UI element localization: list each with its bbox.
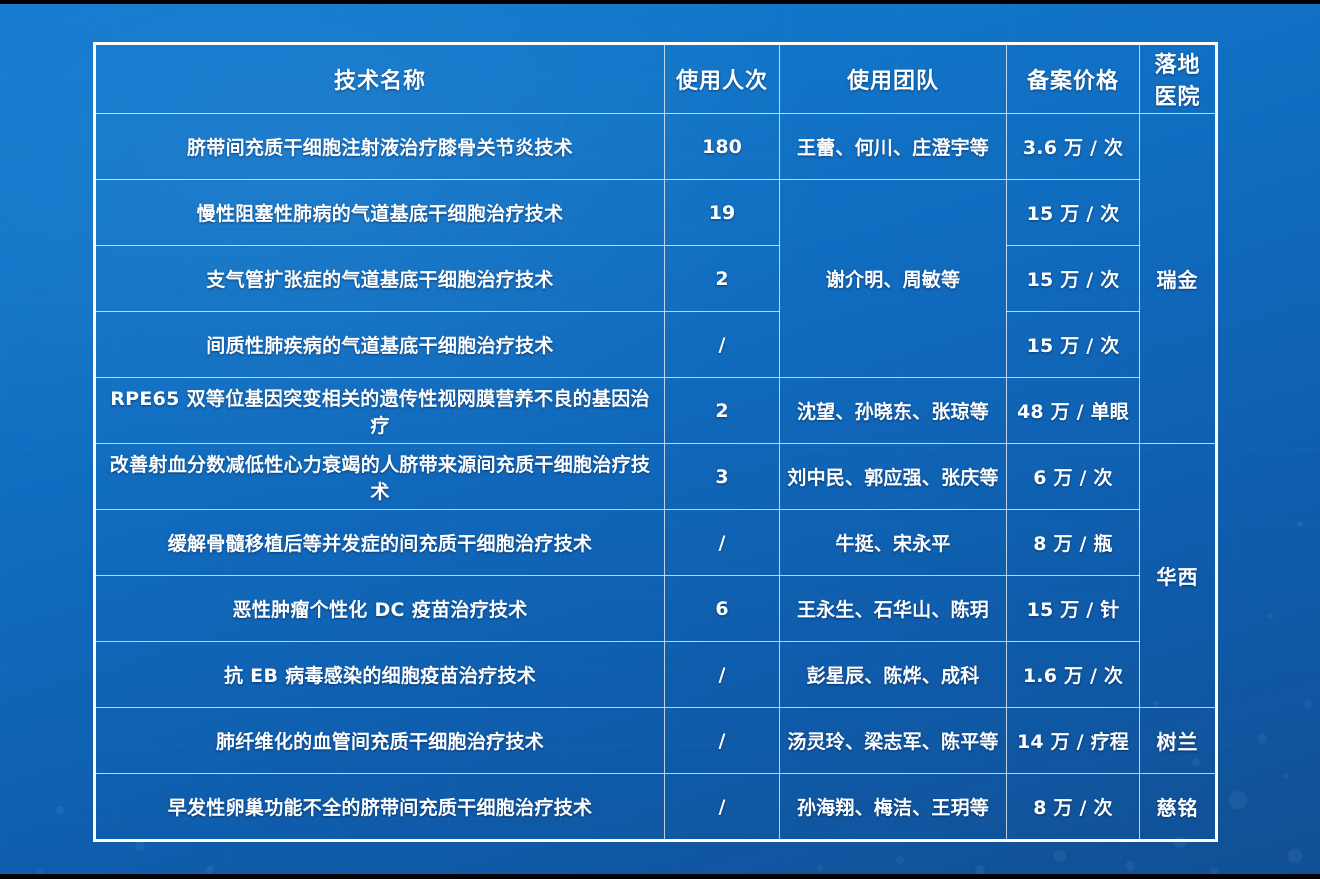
cell-price: 15 万 / 次: [1007, 312, 1140, 378]
table-row: RPE65 双等位基因突变相关的遗传性视网膜营养不良的基因治疗 2 沈望、孙晓东…: [96, 378, 1216, 444]
cell-usage-count: /: [665, 510, 780, 576]
cell-hospital-ciming: 慈铭: [1140, 774, 1216, 840]
slide-canvas: 技术名称 使用人次 使用团队 备案价格 落地医院 脐带间充质干细胞注射液治疗膝骨…: [0, 0, 1320, 879]
table-row: 早发性卵巢功能不全的脐带间充质干细胞治疗技术 / 孙海翔、梅洁、王玥等 8 万 …: [96, 774, 1216, 840]
cell-team: 王永生、石华山、陈玥: [780, 576, 1007, 642]
table-row: 慢性阻塞性肺病的气道基底干细胞治疗技术 19 谢介明、周敏等 15 万 / 次: [96, 180, 1216, 246]
cell-technology-name: 肺纤维化的血管间充质干细胞治疗技术: [96, 708, 665, 774]
cell-price: 15 万 / 针: [1007, 576, 1140, 642]
cell-usage-count: 6: [665, 576, 780, 642]
table-row: 缓解骨髓移植后等并发症的间充质干细胞治疗技术 / 牛挺、宋永平 8 万 / 瓶: [96, 510, 1216, 576]
cell-price: 3.6 万 / 次: [1007, 114, 1140, 180]
cell-usage-count: 2: [665, 378, 780, 444]
cell-team-merged: 谢介明、周敏等: [780, 180, 1007, 378]
table-row: 抗 EB 病毒感染的细胞疫苗治疗技术 / 彭星辰、陈烨、成科 1.6 万 / 次: [96, 642, 1216, 708]
cell-price: 1.6 万 / 次: [1007, 642, 1140, 708]
cell-price: 8 万 / 瓶: [1007, 510, 1140, 576]
cell-usage-count: /: [665, 708, 780, 774]
cell-team: 彭星辰、陈烨、成科: [780, 642, 1007, 708]
cell-team: 牛挺、宋永平: [780, 510, 1007, 576]
cell-hospital-huaxi: 华西: [1140, 444, 1216, 708]
table-row: 脐带间充质干细胞注射液治疗膝骨关节炎技术 180 王蕾、何川、庄澄宇等 3.6 …: [96, 114, 1216, 180]
cell-price: 15 万 / 次: [1007, 180, 1140, 246]
cell-team: 王蕾、何川、庄澄宇等: [780, 114, 1007, 180]
table-header: 技术名称 使用人次 使用团队 备案价格 落地医院: [96, 45, 1216, 114]
cell-usage-count: 19: [665, 180, 780, 246]
cell-price: 6 万 / 次: [1007, 444, 1140, 510]
cell-technology-name: RPE65 双等位基因突变相关的遗传性视网膜营养不良的基因治疗: [96, 378, 665, 444]
table-row: 肺纤维化的血管间充质干细胞治疗技术 / 汤灵玲、梁志军、陈平等 14 万 / 疗…: [96, 708, 1216, 774]
cell-team: 汤灵玲、梁志军、陈平等: [780, 708, 1007, 774]
column-header-price: 备案价格: [1007, 45, 1140, 114]
table-header-row: 技术名称 使用人次 使用团队 备案价格 落地医院: [96, 45, 1216, 114]
cell-usage-count: 3: [665, 444, 780, 510]
cell-price: 48 万 / 单眼: [1007, 378, 1140, 444]
cell-technology-name: 改善射血分数减低性心力衰竭的人脐带来源间充质干细胞治疗技术: [96, 444, 665, 510]
cell-technology-name: 恶性肿瘤个性化 DC 疫苗治疗技术: [96, 576, 665, 642]
table-row: 改善射血分数减低性心力衰竭的人脐带来源间充质干细胞治疗技术 3 刘中民、郭应强、…: [96, 444, 1216, 510]
cell-technology-name: 抗 EB 病毒感染的细胞疫苗治疗技术: [96, 642, 665, 708]
table-row: 间质性肺疾病的气道基底干细胞治疗技术 / 15 万 / 次: [96, 312, 1216, 378]
cell-usage-count: /: [665, 312, 780, 378]
cell-technology-name: 脐带间充质干细胞注射液治疗膝骨关节炎技术: [96, 114, 665, 180]
cell-hospital-ruijin: 瑞金: [1140, 114, 1216, 444]
table-row: 恶性肿瘤个性化 DC 疫苗治疗技术 6 王永生、石华山、陈玥 15 万 / 针: [96, 576, 1216, 642]
cell-team: 刘中民、郭应强、张庆等: [780, 444, 1007, 510]
cell-price: 8 万 / 次: [1007, 774, 1140, 840]
cell-usage-count: /: [665, 642, 780, 708]
cell-technology-name: 缓解骨髓移植后等并发症的间充质干细胞治疗技术: [96, 510, 665, 576]
column-header-usage-count: 使用人次: [665, 45, 780, 114]
technology-table-container: 技术名称 使用人次 使用团队 备案价格 落地医院 脐带间充质干细胞注射液治疗膝骨…: [95, 44, 1215, 837]
cell-usage-count: /: [665, 774, 780, 840]
cell-usage-count: 2: [665, 246, 780, 312]
cell-technology-name: 早发性卵巢功能不全的脐带间充质干细胞治疗技术: [96, 774, 665, 840]
column-header-hospital: 落地医院: [1140, 45, 1216, 114]
cell-price: 15 万 / 次: [1007, 246, 1140, 312]
table-body: 脐带间充质干细胞注射液治疗膝骨关节炎技术 180 王蕾、何川、庄澄宇等 3.6 …: [96, 114, 1216, 840]
cell-technology-name: 慢性阻塞性肺病的气道基底干细胞治疗技术: [96, 180, 665, 246]
technology-table: 技术名称 使用人次 使用团队 备案价格 落地医院 脐带间充质干细胞注射液治疗膝骨…: [95, 44, 1216, 840]
table-row: 支气管扩张症的气道基底干细胞治疗技术 2 15 万 / 次: [96, 246, 1216, 312]
cell-team: 沈望、孙晓东、张琼等: [780, 378, 1007, 444]
cell-technology-name: 间质性肺疾病的气道基底干细胞治疗技术: [96, 312, 665, 378]
cell-hospital-shulan: 树兰: [1140, 708, 1216, 774]
cell-technology-name: 支气管扩张症的气道基底干细胞治疗技术: [96, 246, 665, 312]
column-header-team: 使用团队: [780, 45, 1007, 114]
column-header-technology-name: 技术名称: [96, 45, 665, 114]
cell-team: 孙海翔、梅洁、王玥等: [780, 774, 1007, 840]
cell-usage-count: 180: [665, 114, 780, 180]
cell-price: 14 万 / 疗程: [1007, 708, 1140, 774]
